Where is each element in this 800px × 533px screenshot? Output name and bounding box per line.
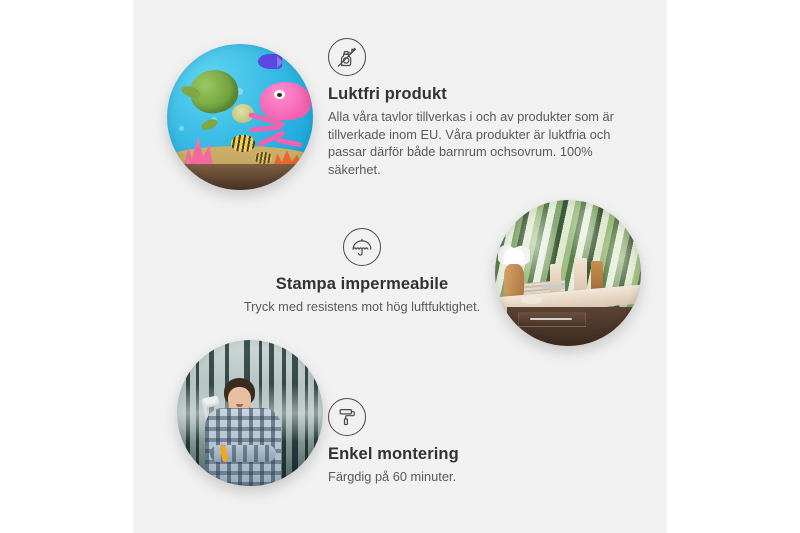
blue-fish-icon [258, 54, 283, 69]
striped-fish-icon [231, 135, 254, 153]
feature-block-easy-mounting: Enkel montering Färgdig på 60 minuter. [328, 398, 608, 486]
feature-description: Tryck med resistens mot hög luftfuktighe… [177, 298, 547, 316]
toiletry-bottle [550, 264, 560, 293]
no-fragrance-icon [328, 38, 366, 76]
screenshot-root: Luktfri produkt Alla våra tavlor tillver… [0, 0, 800, 533]
painter-woman [203, 378, 282, 486]
feature-image-underwater-kids-scene [167, 44, 313, 190]
umbrella-icon [343, 228, 381, 266]
feature-description: Färgdig på 60 minuter. [328, 468, 608, 486]
paint-roller-icon [328, 398, 366, 436]
striped-fish-icon [255, 152, 273, 164]
octopus-icon [249, 82, 310, 149]
feature-block-waterproof: Stampa impermeabile Tryck med resistens … [177, 228, 547, 316]
feature-image-painter-forest-mural [177, 340, 323, 486]
bubble-icon [179, 126, 184, 131]
feature-title: Enkel montering [328, 445, 608, 464]
foreground-strip [167, 164, 313, 190]
feature-title: Stampa impermeabile [177, 275, 547, 294]
feature-title: Luktfri produkt [328, 85, 628, 104]
feature-block-odourless: Luktfri produkt Alla våra tavlor tillver… [328, 38, 628, 178]
feature-description: Alla våra tavlor tillverkas i och av pro… [328, 108, 620, 178]
sea-turtle-icon [185, 67, 252, 125]
product-feature-panel: Luktfri produkt Alla våra tavlor tillver… [133, 0, 667, 533]
